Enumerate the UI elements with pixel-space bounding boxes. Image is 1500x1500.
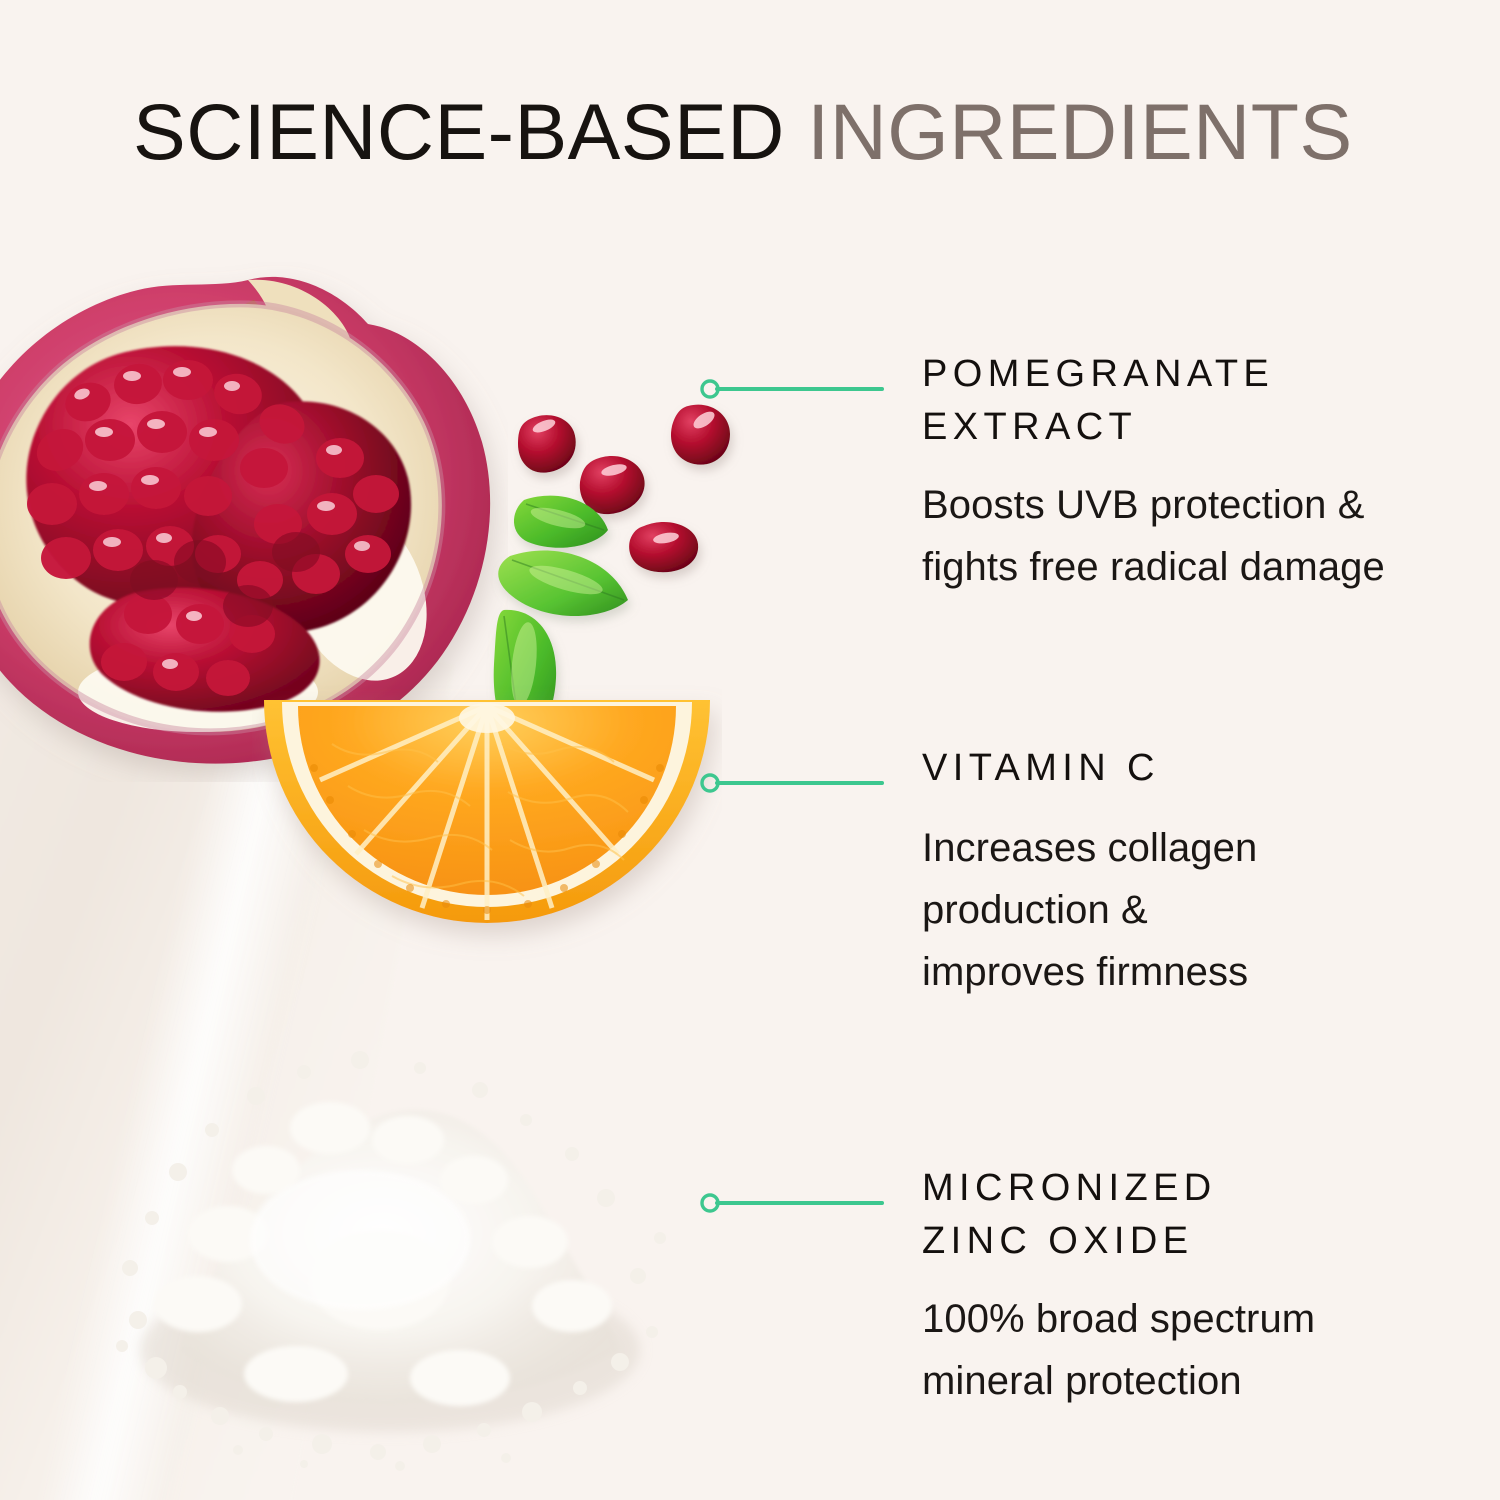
- ingredient-text-zinc-oxide: MICRONIZED ZINC OXIDE 100% broad spectru…: [922, 1162, 1462, 1412]
- orange-wedge-photo: [252, 648, 722, 1040]
- ingredient-heading: POMEGRANATE EXTRACT: [922, 348, 1462, 454]
- page-title-secondary: INGREDIENTS: [807, 87, 1352, 176]
- ingredient-text-vitamin-c: VITAMIN C Increases collagen production …: [922, 742, 1462, 1003]
- callout-circle-line-icon: [700, 1192, 890, 1214]
- ingredient-heading: VITAMIN C: [922, 742, 1462, 795]
- ingredient-heading: MICRONIZED ZINC OXIDE: [922, 1162, 1462, 1268]
- callout-circle-line-icon: [700, 772, 890, 794]
- ingredient-description: Boosts UVB protection & fights free radi…: [922, 474, 1462, 598]
- ingredients-infographic: SCIENCE-BASED INGREDIENTS: [0, 0, 1500, 1500]
- zinc-oxide-powder-photo: [60, 1020, 720, 1480]
- product-photo-collage: [0, 0, 760, 1500]
- ingredient-description: Increases collagen production & improves…: [922, 817, 1462, 1003]
- callout-circle-line-icon: [700, 378, 890, 400]
- ingredient-text-pomegranate: POMEGRANATE EXTRACT Boosts UVB protectio…: [922, 348, 1462, 598]
- ingredient-description: 100% broad spectrum mineral protection: [922, 1288, 1462, 1412]
